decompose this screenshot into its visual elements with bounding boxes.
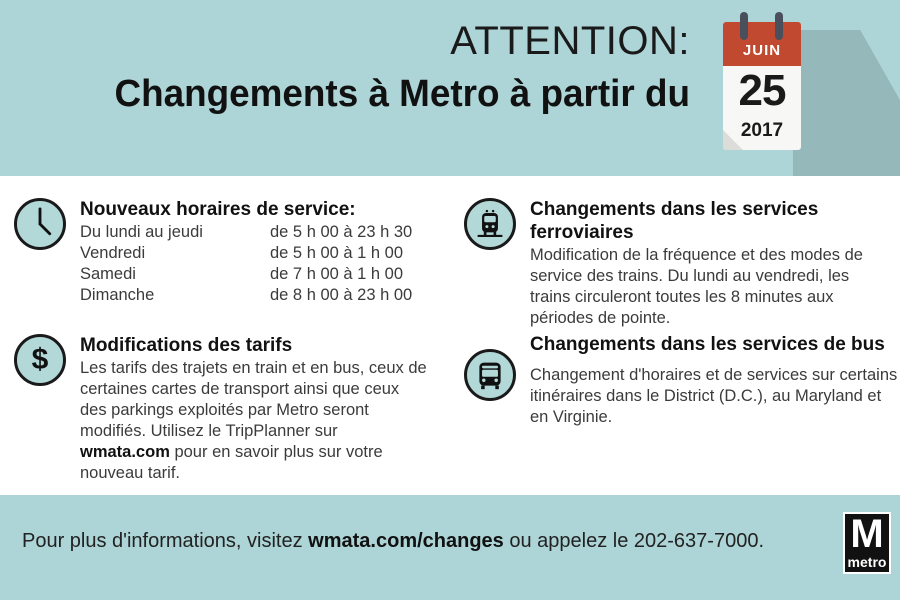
calendar-month-label: JUIN: [723, 42, 801, 59]
calendar-ring-left: [740, 12, 748, 40]
right-column: Changements dans les services ferroviair…: [460, 176, 900, 495]
hours-day: Vendredi: [80, 243, 270, 264]
dollar-icon: $: [14, 334, 66, 386]
hours-time: de 5 h 00 à 23 h 30: [270, 222, 412, 243]
attention-label: ATTENTION:: [0, 18, 690, 64]
footer-link[interactable]: wmata.com/changes: [308, 530, 504, 552]
calendar-icon: JUIN 25 2017: [723, 22, 801, 150]
bus-changes-title: Changements dans les services de bus: [530, 333, 900, 356]
fare-changes-title: Modifications des tarifs: [80, 334, 430, 357]
table-row: Samedi de 7 h 00 à 1 h 00: [80, 264, 412, 285]
service-hours-table: Du lundi au jeudi de 5 h 00 à 23 h 30 Ve…: [80, 222, 412, 306]
hours-time: de 5 h 00 à 1 h 00: [270, 243, 412, 264]
hours-day: Dimanche: [80, 285, 270, 306]
footer-text-part1: Pour plus d'informations, visitez: [22, 530, 308, 552]
calendar-day-number: 25: [723, 67, 801, 115]
infographic-poster: ATTENTION: Changements à Metro à partir …: [0, 0, 900, 600]
table-row: Du lundi au jeudi de 5 h 00 à 23 h 30: [80, 222, 412, 243]
calendar-ring-right: [775, 12, 783, 40]
footer-contact-text: Pour plus d'informations, visitez wmata.…: [22, 528, 764, 554]
fare-body-part1: Les tarifs des trajets en train et en bu…: [80, 359, 427, 440]
table-row: Dimanche de 8 h 00 à 23 h 00: [80, 285, 412, 306]
hours-time: de 8 h 00 à 23 h 00: [270, 285, 412, 306]
hours-day: Du lundi au jeudi: [80, 222, 270, 243]
headline-group: ATTENTION: Changements à Metro à partir …: [0, 18, 690, 118]
body-area: Nouveaux horaires de service: Du lundi a…: [0, 176, 900, 495]
hours-day: Samedi: [80, 264, 270, 285]
rail-changes-title: Changements dans les services ferroviair…: [530, 198, 890, 244]
metro-logo-wordmark: metro: [845, 555, 889, 570]
bus-changes-body: Changement d'horaires et de services sur…: [530, 365, 900, 428]
metro-logo-mark: M: [845, 513, 889, 555]
left-column: Nouveaux horaires de service: Du lundi a…: [0, 176, 450, 495]
calendar-shadow: [793, 30, 900, 176]
rail-changes-text: Changements dans les services ferroviair…: [530, 198, 890, 329]
bus-icon: [464, 349, 516, 401]
service-hours-title: Nouveaux horaires de service:: [80, 198, 444, 221]
metro-logo: M metro: [843, 512, 891, 574]
fare-changes-body: Les tarifs des trajets en train et en bu…: [80, 358, 430, 484]
header-band: ATTENTION: Changements à Metro à partir …: [0, 0, 900, 176]
table-row: Vendredi de 5 h 00 à 1 h 00: [80, 243, 412, 264]
train-icon: [464, 198, 516, 250]
footer-text-part2: ou appelez le 202-637-7000.: [504, 530, 764, 552]
wmata-link[interactable]: wmata.com: [80, 443, 170, 461]
hours-time: de 7 h 00 à 1 h 00: [270, 264, 412, 285]
page-title: Changements à Metro à partir du: [21, 70, 690, 118]
service-hours-text: Nouveaux horaires de service: Du lundi a…: [80, 198, 444, 306]
fare-changes-text: Modifications des tarifs Les tarifs des …: [80, 334, 430, 484]
bus-changes-text: Changements dans les services de bus Cha…: [530, 333, 900, 428]
calendar-year-label: 2017: [723, 120, 801, 142]
clock-icon: [14, 198, 66, 250]
rail-changes-body: Modification de la fréquence et des mode…: [530, 245, 890, 329]
